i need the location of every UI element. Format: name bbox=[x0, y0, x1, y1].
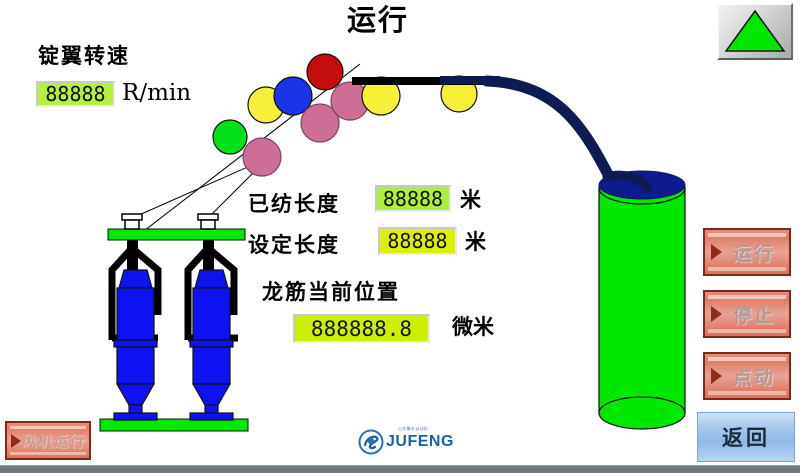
stop-button-label: 停止 bbox=[719, 301, 775, 328]
spun-length-label: 已纺长度 bbox=[248, 188, 340, 218]
run-button-label: 运行 bbox=[719, 239, 775, 266]
flyer-speed-value[interactable]: 88888 bbox=[36, 81, 115, 107]
flyer-assembly bbox=[100, 214, 248, 431]
flyer-speed-label: 锭翼转速 bbox=[38, 40, 130, 70]
set-length-unit: 米 bbox=[465, 226, 486, 256]
jog-button-label: 点动 bbox=[719, 363, 775, 390]
stop-button[interactable]: 停止 bbox=[703, 290, 791, 338]
page-title: 运行 bbox=[318, 2, 438, 38]
fan-run-button[interactable]: 风机运行 bbox=[5, 421, 91, 460]
fan-run-button-label: 风机运行 bbox=[10, 430, 85, 451]
company-logo: 山东聚丰自动化 JUFENG bbox=[358, 425, 450, 457]
rail-position-value[interactable]: 888888.8 bbox=[293, 314, 430, 343]
flyer-speed-unit: R/min bbox=[122, 80, 191, 106]
status-bar bbox=[0, 465, 800, 473]
logo-subtitle: 山东聚丰自动化 bbox=[398, 426, 428, 432]
run-button[interactable]: 运行 bbox=[703, 228, 791, 276]
rail-position-label: 龙筋当前位置 bbox=[262, 276, 400, 306]
jufeng-mark-icon bbox=[358, 429, 384, 455]
back-button[interactable]: 返回 bbox=[697, 412, 795, 462]
spun-length-unit: 米 bbox=[460, 184, 481, 214]
hmi-screen: 运行 锭翼转速 88888 R/min 已纺长度 88888 米 设定长度 88… bbox=[0, 0, 800, 473]
set-length-value[interactable]: 88888 bbox=[378, 227, 457, 255]
roving-can bbox=[599, 171, 685, 429]
up-triangle-icon bbox=[724, 9, 786, 54]
back-button-label: 返回 bbox=[722, 422, 770, 452]
logo-wordmark: JUFENG bbox=[386, 433, 454, 451]
up-arrow-button[interactable] bbox=[717, 3, 793, 60]
jog-button[interactable]: 点动 bbox=[703, 352, 791, 400]
spun-length-value[interactable]: 88888 bbox=[375, 185, 451, 212]
set-length-label: 设定长度 bbox=[248, 229, 340, 259]
rail-position-unit: 微米 bbox=[452, 311, 494, 341]
roller-group bbox=[213, 54, 477, 176]
